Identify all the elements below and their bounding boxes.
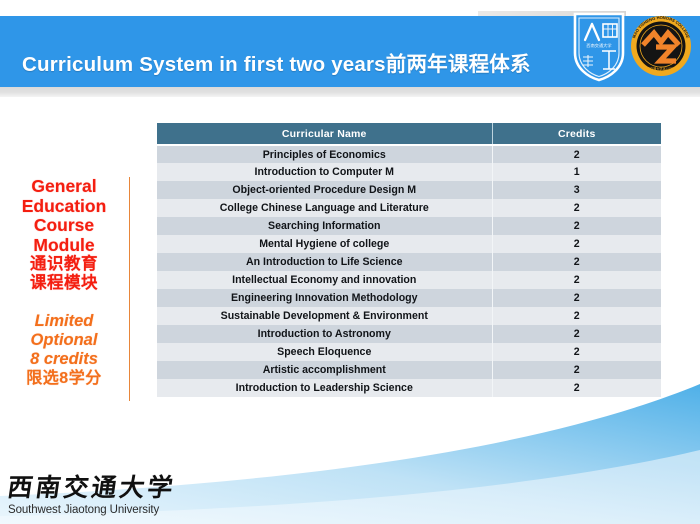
module-title-block: General Education Course Module 通识教育 课程模… — [0, 177, 128, 292]
table-row[interactable]: Speech Eloquence2 — [157, 343, 661, 361]
table-row[interactable]: Searching Information2 — [157, 217, 661, 235]
module-line-3: Course — [0, 216, 128, 236]
course-name-cell: Principles of Economics — [157, 145, 492, 163]
course-name-cell: Introduction to Leadership Science — [157, 379, 492, 397]
course-name-cell: Speech Eloquence — [157, 343, 492, 361]
table-body: Principles of Economics2Introduction to … — [157, 145, 661, 397]
course-name-cell: Object-oriented Procedure Design M — [157, 181, 492, 199]
course-credits-cell: 2 — [492, 361, 661, 379]
page-title: Curriculum System in first two years前两年课… — [22, 47, 531, 77]
credit-note-line-cn: 限选8学分 — [0, 369, 128, 388]
university-branding: 西南交通大学 Southwest Jiaotong University — [8, 471, 188, 516]
course-name-cell: College Chinese Language and Literature — [157, 199, 492, 217]
logo-group: 西南交通大学 MAO YISHENG HONORS COLLEGE 西南交通大学… — [572, 11, 692, 83]
credit-note-line-3: 8 credits — [0, 350, 128, 369]
course-credits-cell: 2 — [492, 271, 661, 289]
svg-text:西南交通大学茅以升学院: 西南交通大学茅以升学院 — [643, 66, 679, 71]
sidebar-vertical-divider — [129, 177, 130, 401]
course-name-cell: Sustainable Development & Environment — [157, 307, 492, 325]
course-name-cell: Mental Hygiene of college — [157, 235, 492, 253]
table-row[interactable]: Introduction to Computer M1 — [157, 163, 661, 181]
column-header-curricular-name[interactable]: Curricular Name — [157, 123, 492, 145]
table-header-row: Curricular Name Credits — [157, 123, 661, 145]
svg-text:西南交通大学: 西南交通大学 — [8, 473, 178, 502]
table-row[interactable]: Principles of Economics2 — [157, 145, 661, 163]
svg-text:西南交通大学: 西南交通大学 — [586, 42, 611, 49]
page-title-cn: 前两年课程体系 — [386, 53, 531, 76]
course-name-cell: Introduction to Astronomy — [157, 325, 492, 343]
course-name-cell: An Introduction to Life Science — [157, 253, 492, 271]
course-credits-cell: 2 — [492, 235, 661, 253]
course-credits-cell: 2 — [492, 199, 661, 217]
module-line-4: Module — [0, 236, 128, 256]
table-row[interactable]: Engineering Innovation Methodology2 — [157, 289, 661, 307]
credit-note-line-2: Optional — [0, 331, 128, 350]
course-credits-cell: 3 — [492, 181, 661, 199]
course-name-cell: Artistic accomplishment — [157, 361, 492, 379]
module-line-2: Education — [0, 197, 128, 217]
swjtu-calligraphy-cn-icon: 西南交通大学 — [8, 471, 188, 503]
table-row[interactable]: Artistic accomplishment2 — [157, 361, 661, 379]
module-line-1: General — [0, 177, 128, 197]
university-name-en: Southwest Jiaotong University — [8, 504, 188, 516]
table-row[interactable]: An Introduction to Life Science2 — [157, 253, 661, 271]
credit-note-block: Limited Optional 8 credits 限选8学分 — [0, 312, 128, 388]
table-head: Curricular Name Credits — [157, 123, 661, 145]
table-row[interactable]: Object-oriented Procedure Design M3 — [157, 181, 661, 199]
table-row[interactable]: Intellectual Economy and innovation2 — [157, 271, 661, 289]
table-row[interactable]: Sustainable Development & Environment2 — [157, 307, 661, 325]
course-credits-cell: 2 — [492, 379, 661, 397]
page-title-en: Curriculum System in first two years — [22, 53, 386, 76]
honors-college-logo-icon: MAO YISHENG HONORS COLLEGE 西南交通大学茅以升学院 — [630, 15, 692, 77]
table-row[interactable]: Introduction to Astronomy2 — [157, 325, 661, 343]
course-credits-cell: 2 — [492, 325, 661, 343]
course-name-cell: Intellectual Economy and innovation — [157, 271, 492, 289]
curriculum-table: Curricular Name Credits Principles of Ec… — [157, 123, 661, 397]
course-credits-cell: 2 — [492, 253, 661, 271]
table-row[interactable]: Introduction to Leadership Science2 — [157, 379, 661, 397]
course-name-cell: Introduction to Computer M — [157, 163, 492, 181]
table-row[interactable]: Mental Hygiene of college2 — [157, 235, 661, 253]
course-credits-cell: 2 — [492, 289, 661, 307]
course-credits-cell: 2 — [492, 217, 661, 235]
column-header-credits[interactable]: Credits — [492, 123, 661, 145]
course-credits-cell: 2 — [492, 343, 661, 361]
table-row[interactable]: College Chinese Language and Literature2 — [157, 199, 661, 217]
module-line-cn-2: 课程模块 — [0, 274, 128, 293]
header-underline — [0, 87, 700, 97]
swjtu-shield-logo-icon: 西南交通大学 — [572, 11, 626, 83]
slide-canvas: Curriculum System in first two years前两年课… — [0, 0, 700, 524]
sidebar-module-label: General Education Course Module 通识教育 课程模… — [0, 177, 128, 388]
course-name-cell: Searching Information — [157, 217, 492, 235]
course-name-cell: Engineering Innovation Methodology — [157, 289, 492, 307]
module-line-cn-1: 通识教育 — [0, 255, 128, 274]
course-credits-cell: 1 — [492, 163, 661, 181]
credit-note-line-1: Limited — [0, 312, 128, 331]
course-credits-cell: 2 — [492, 307, 661, 325]
course-credits-cell: 2 — [492, 145, 661, 163]
